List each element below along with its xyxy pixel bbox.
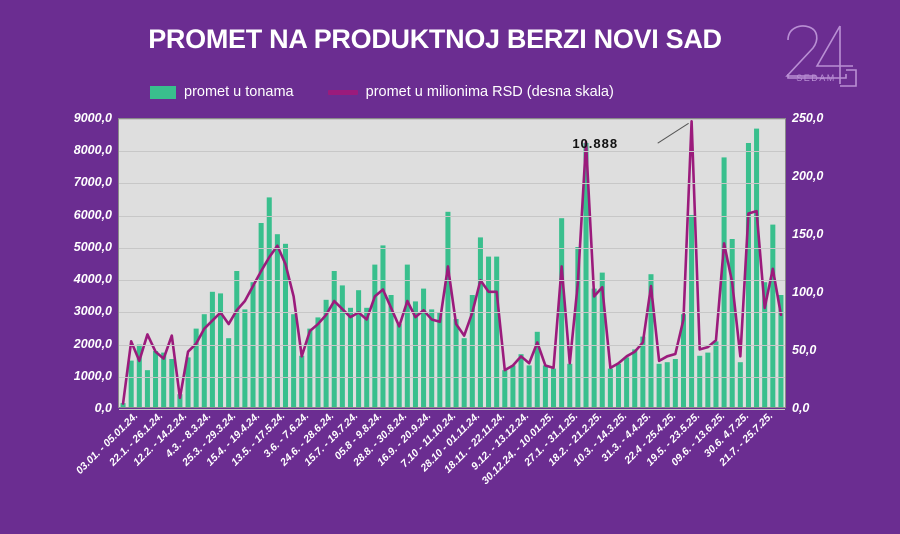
bar[interactable] bbox=[437, 313, 442, 407]
y-axis-left-tick: 3000,0 bbox=[8, 304, 112, 318]
bar[interactable] bbox=[226, 338, 231, 407]
bar[interactable] bbox=[616, 364, 621, 407]
bar[interactable] bbox=[478, 237, 483, 407]
bar[interactable] bbox=[551, 369, 556, 407]
gridline bbox=[119, 312, 785, 313]
bar[interactable] bbox=[340, 285, 345, 407]
bar[interactable] bbox=[730, 239, 735, 407]
y-axis-right-tick: 0,0 bbox=[792, 401, 809, 415]
y-axis-left-tick: 5000,0 bbox=[8, 240, 112, 254]
bar[interactable] bbox=[519, 354, 524, 407]
bar[interactable] bbox=[161, 353, 166, 407]
gridline bbox=[119, 151, 785, 152]
y-axis-right-tick: 150,0 bbox=[792, 227, 823, 241]
bar[interactable] bbox=[722, 157, 727, 407]
brand-logo-24sedam: SEDAM bbox=[770, 18, 862, 90]
gridline bbox=[119, 280, 785, 281]
bar[interactable] bbox=[592, 289, 597, 407]
y-axis-left-tick: 8000,0 bbox=[8, 143, 112, 157]
bar[interactable] bbox=[673, 359, 678, 407]
bar[interactable] bbox=[454, 319, 459, 407]
gridline bbox=[119, 377, 785, 378]
legend-label-line: promet u milionima RSD (desna skala) bbox=[366, 84, 614, 100]
bar[interactable] bbox=[380, 245, 385, 407]
bar[interactable] bbox=[462, 338, 467, 407]
logo-24-sedam-icon: SEDAM bbox=[770, 18, 862, 90]
legend-item-bars[interactable]: promet u tonama bbox=[150, 84, 294, 100]
y-axis-right-tick: 200,0 bbox=[792, 169, 823, 183]
y-axis-right-tick: 50,0 bbox=[792, 343, 816, 357]
bar[interactable] bbox=[315, 317, 320, 407]
bar[interactable] bbox=[210, 292, 215, 407]
bar[interactable] bbox=[527, 365, 532, 407]
bar[interactable] bbox=[332, 271, 337, 407]
y-axis-left-tick: 6000,0 bbox=[8, 208, 112, 222]
peak-annotation-label: 10.888 bbox=[572, 136, 618, 151]
gridline bbox=[119, 216, 785, 217]
annotation-leader-line bbox=[658, 123, 689, 143]
page-title: PROMET NA PRODUKTNOJ BERZI NOVI SAD bbox=[140, 24, 730, 55]
plot-area bbox=[118, 118, 786, 408]
bar[interactable] bbox=[299, 356, 304, 407]
gridline bbox=[119, 183, 785, 184]
y-axis-right: 0,050,0100,0150,0200,0250,0 bbox=[792, 118, 892, 408]
y-axis-right-tick: 250,0 bbox=[792, 111, 823, 125]
bar[interactable] bbox=[348, 308, 353, 407]
bar[interactable] bbox=[421, 289, 426, 407]
bar[interactable] bbox=[640, 337, 645, 407]
legend-item-line[interactable]: promet u milionima RSD (desna skala) bbox=[328, 84, 614, 100]
bar[interactable] bbox=[405, 265, 410, 407]
bar[interactable] bbox=[697, 356, 702, 407]
bar[interactable] bbox=[429, 309, 434, 407]
chart-canvas bbox=[119, 119, 785, 407]
bar[interactable] bbox=[153, 351, 158, 407]
y-axis-left-tick: 4000,0 bbox=[8, 272, 112, 286]
y-axis-left-tick: 2000,0 bbox=[8, 337, 112, 351]
bar[interactable] bbox=[738, 362, 743, 407]
bar[interactable] bbox=[275, 234, 280, 407]
legend-bar-swatch-icon bbox=[150, 86, 176, 99]
bar[interactable] bbox=[665, 362, 670, 407]
y-axis-left-tick: 7000,0 bbox=[8, 175, 112, 189]
y-axis-left-tick: 9000,0 bbox=[8, 111, 112, 125]
bar[interactable] bbox=[364, 308, 369, 407]
bar[interactable] bbox=[169, 359, 174, 407]
y-axis-left-tick: 0,0 bbox=[8, 401, 112, 415]
bar[interactable] bbox=[372, 265, 377, 407]
bar[interactable] bbox=[770, 225, 775, 407]
chart-legend: promet u tonama promet u milionima RSD (… bbox=[150, 84, 614, 100]
bar[interactable] bbox=[754, 129, 759, 407]
bar[interactable] bbox=[608, 369, 613, 407]
bar[interactable] bbox=[234, 271, 239, 407]
bar[interactable] bbox=[689, 215, 694, 407]
bar[interactable] bbox=[259, 223, 264, 407]
chart-root: PROMET NA PRODUKTNOJ BERZI NOVI SAD SEDA… bbox=[0, 0, 900, 534]
y-axis-left-tick: 1000,0 bbox=[8, 369, 112, 383]
x-axis-labels: 03.01. - 05.01.24.22.1. - 26.1.24.12.2. … bbox=[118, 410, 786, 530]
bar[interactable] bbox=[705, 353, 710, 407]
bar[interactable] bbox=[291, 314, 296, 407]
logo-subtext: SEDAM bbox=[796, 73, 836, 83]
legend-line-swatch-icon bbox=[328, 90, 358, 95]
y-axis-right-tick: 100,0 bbox=[792, 285, 823, 299]
bar[interactable] bbox=[543, 365, 548, 407]
legend-label-bars: promet u tonama bbox=[184, 84, 294, 100]
bar[interactable] bbox=[242, 309, 247, 407]
y-axis-left: 0,01000,02000,03000,04000,05000,06000,07… bbox=[0, 118, 112, 408]
bar[interactable] bbox=[713, 341, 718, 407]
plot-wrap: 10.888 bbox=[118, 118, 786, 408]
bar[interactable] bbox=[397, 324, 402, 407]
bar[interactable] bbox=[218, 293, 223, 407]
bar[interactable] bbox=[624, 357, 629, 407]
gridline bbox=[119, 119, 785, 120]
bar[interactable] bbox=[632, 349, 637, 407]
bar[interactable] bbox=[567, 364, 572, 407]
bar[interactable] bbox=[510, 365, 515, 407]
bar[interactable] bbox=[267, 197, 272, 407]
gridline bbox=[119, 345, 785, 346]
gridline bbox=[119, 248, 785, 249]
bar[interactable] bbox=[657, 364, 662, 407]
bar[interactable] bbox=[145, 370, 150, 407]
bar[interactable] bbox=[129, 361, 134, 407]
bar[interactable] bbox=[356, 290, 361, 407]
bar[interactable] bbox=[502, 370, 507, 407]
